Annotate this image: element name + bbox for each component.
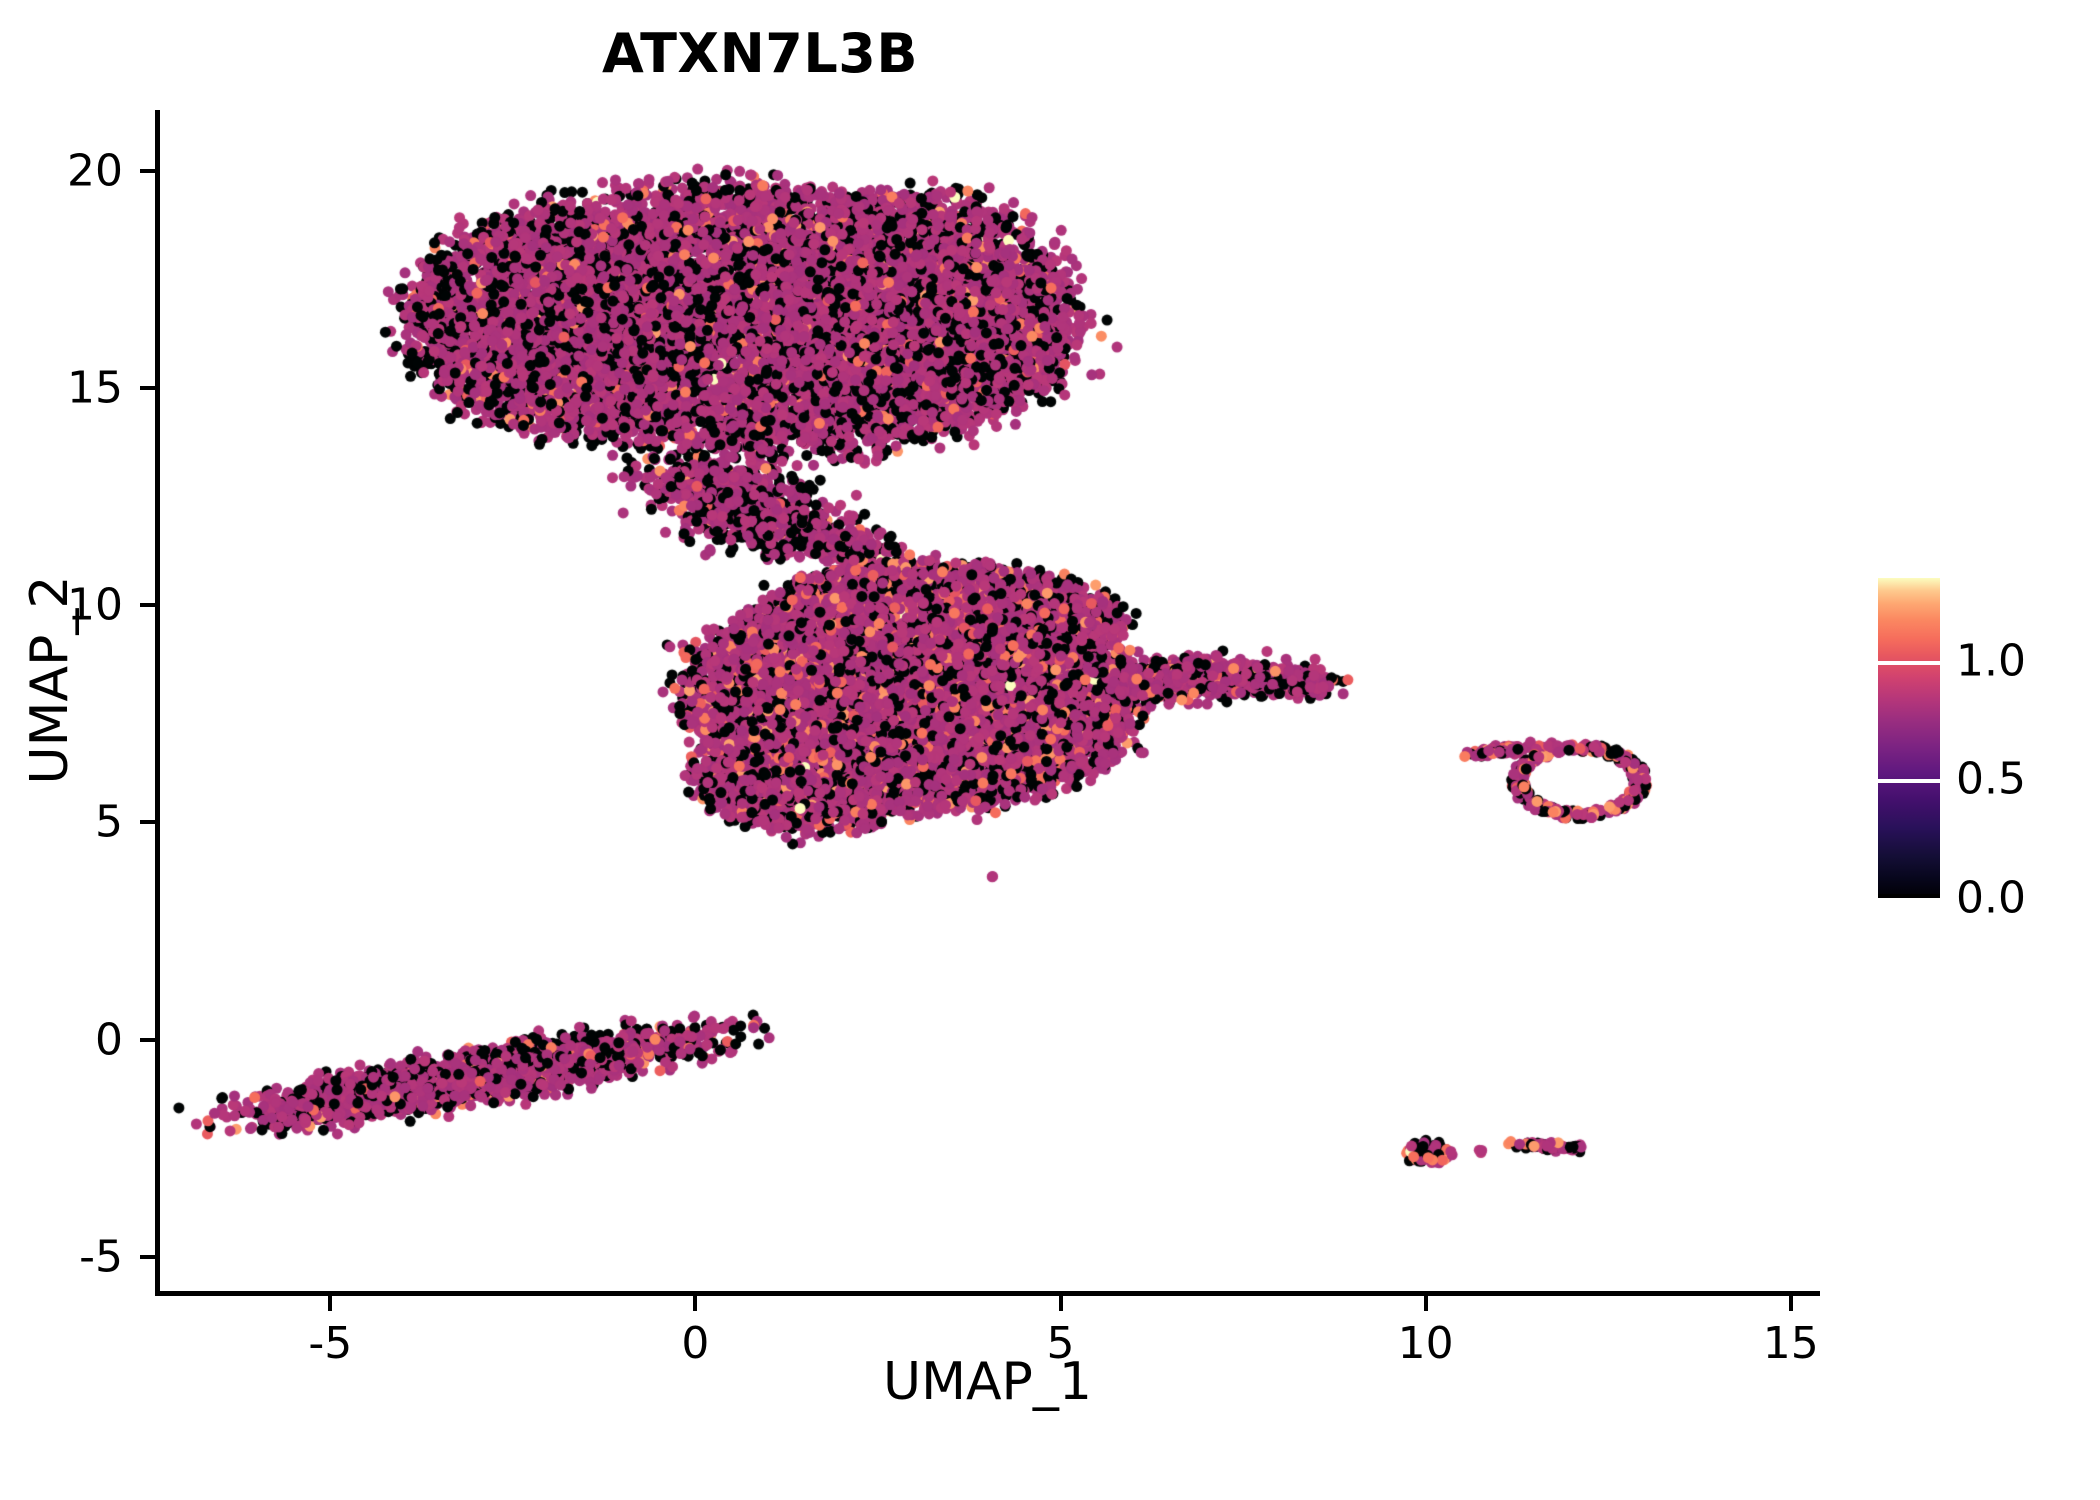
x-tick-mark [693, 1296, 697, 1311]
y-tick-label: 0 [95, 1014, 123, 1065]
colorbar-tick-mark [1878, 894, 1940, 898]
y-tick-mark [140, 1255, 155, 1259]
scatter-points-canvas [155, 110, 1820, 1296]
colorbar-tick-label: 1.0 [1956, 635, 2026, 686]
colorbar-tick-label: 0.5 [1956, 754, 2026, 805]
y-axis-label: UMAP_2 [20, 330, 80, 1030]
figure-root: ATXN7L3B -5051015 -505101520 UMAP_1 UMAP… [0, 0, 2100, 1500]
colorbar-tick-label: 0.0 [1956, 873, 2026, 924]
y-tick-mark [140, 1038, 155, 1042]
page-title: ATXN7L3B [0, 22, 1520, 85]
x-axis-label: UMAP_1 [155, 1352, 1820, 1412]
x-tick-mark [328, 1296, 332, 1311]
y-tick-mark [140, 169, 155, 173]
scatter-plot-area [155, 110, 1820, 1296]
y-tick-label: -5 [79, 1231, 123, 1282]
y-tick-mark [140, 603, 155, 607]
y-tick-mark [140, 820, 155, 824]
y-tick-label: 20 [67, 145, 123, 196]
colorbar-gradient [1878, 578, 1940, 898]
x-tick-mark [1424, 1296, 1428, 1311]
y-tick-label: 5 [95, 797, 123, 848]
colorbar-tick-mark [1878, 661, 1940, 665]
plot-axes: -5051015 -505101520 [155, 110, 1820, 1296]
x-tick-mark [1059, 1296, 1063, 1311]
y-tick-mark [140, 386, 155, 390]
x-tick-mark [1789, 1296, 1793, 1311]
colorbar-tick-mark [1878, 779, 1940, 783]
